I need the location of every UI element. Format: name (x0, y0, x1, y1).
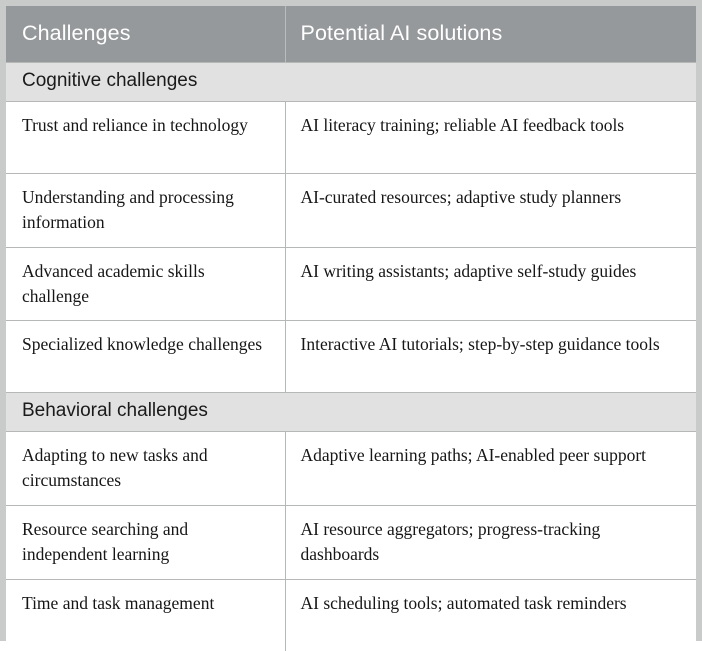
cell-solution: Adaptive learning paths; AI-enabled peer… (285, 432, 696, 506)
table-row: Specialized knowledge challenges Interac… (6, 321, 696, 393)
section-title-cognitive-challenges: Cognitive challenges (6, 63, 696, 102)
cell-solution: AI resource aggregators; progress-tracki… (285, 506, 696, 580)
section-header-row-cognitive: Cognitive challenges (6, 63, 696, 102)
table-row: Adapting to new tasks and circumstances … (6, 432, 696, 506)
column-header-potential-ai-solutions: Potential AI solutions (285, 6, 696, 63)
cell-solution: Interactive AI tutorials; step-by-step g… (285, 321, 696, 393)
cell-challenge: Understanding and processing information (6, 174, 285, 248)
cell-solution: AI writing assistants; adaptive self-stu… (285, 247, 696, 321)
cell-challenge: Resource searching and independent learn… (6, 506, 285, 580)
cell-solution: AI scheduling tools; automated task remi… (285, 579, 696, 651)
table-row: Advanced academic skills challenge AI wr… (6, 247, 696, 321)
cell-challenge: Time and task management (6, 579, 285, 651)
cell-challenge: Trust and reliance in technology (6, 102, 285, 174)
column-header-challenges: Challenges (6, 6, 285, 63)
cell-solution: AI-curated resources; adaptive study pla… (285, 174, 696, 248)
cell-challenge: Advanced academic skills challenge (6, 247, 285, 321)
table-frame: Challenges Potential AI solutions Cognit… (0, 0, 702, 641)
table-row: Resource searching and independent learn… (6, 506, 696, 580)
section-title-behavioral-challenges: Behavioral challenges (6, 393, 696, 432)
cell-solution: AI literacy training; reliable AI feedba… (285, 102, 696, 174)
header-row: Challenges Potential AI solutions (6, 6, 696, 63)
table-row: Understanding and processing information… (6, 174, 696, 248)
challenges-solutions-table: Challenges Potential AI solutions Cognit… (6, 6, 696, 651)
section-header-row-behavioral: Behavioral challenges (6, 393, 696, 432)
table-header: Challenges Potential AI solutions (6, 6, 696, 63)
table-body: Cognitive challenges Trust and reliance … (6, 63, 696, 651)
table-row: Trust and reliance in technology AI lite… (6, 102, 696, 174)
cell-challenge: Specialized knowledge challenges (6, 321, 285, 393)
table-row: Time and task management AI scheduling t… (6, 579, 696, 651)
cell-challenge: Adapting to new tasks and circumstances (6, 432, 285, 506)
